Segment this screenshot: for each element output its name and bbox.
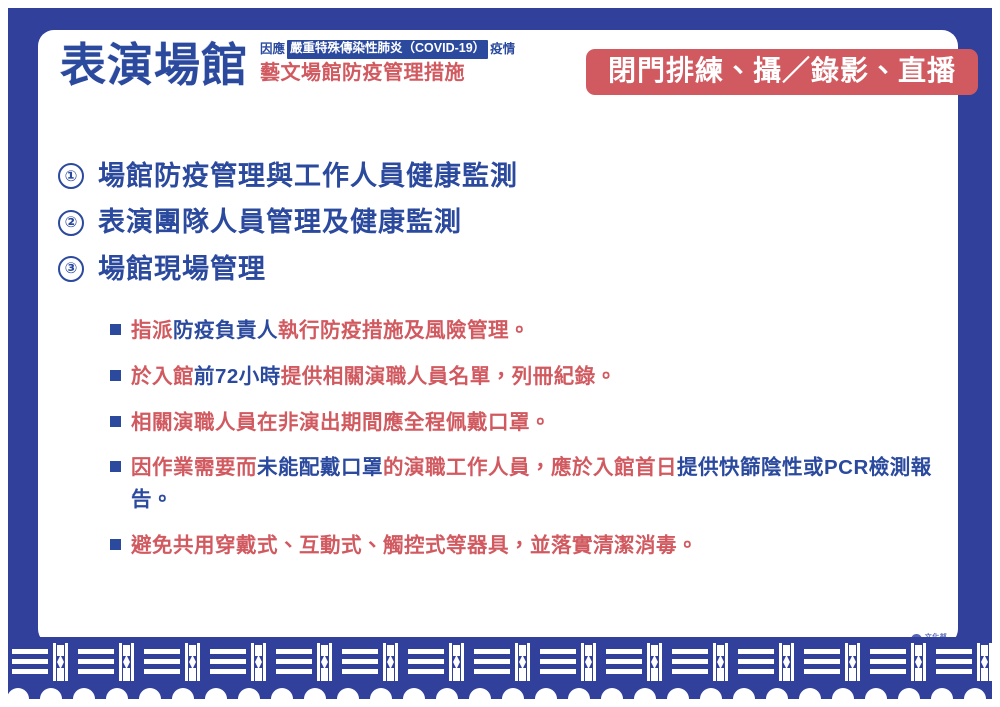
bullet-text-segment: 於入館 [131,365,194,388]
bullet-text-segment: 未能配戴口罩 [257,456,383,479]
bullet-square-icon [110,539,121,550]
bullet-item: 於入館前72小時提供相關演職人員名單，列冊紀錄。 [110,361,940,393]
bullet-item: 相關演職人員在非演出期間應全程佩戴口罩。 [110,407,940,439]
list-item-label: 表演團隊人員管理及健康監測 [98,206,462,238]
list-number-badge: ② [58,210,84,236]
subtitle-stack: 因應 嚴重特殊傳染性肺炎（COVID-19） 疫情 藝文場館防疫管理措施 [260,40,515,88]
railing-pattern-icon [8,637,992,699]
bullet-item: 指派防疫負責人執行防疫措施及風險管理。 [110,315,940,347]
bullet-text: 相關演職人員在非演出期間應全程佩戴口罩。 [131,407,551,439]
title-block: 表演場館 因應 嚴重特殊傳染性肺炎（COVID-19） 疫情 藝文場館防疫管理措… [60,40,515,88]
status-badge: 閉門排練、攝／錄影、直播 [586,49,978,95]
subtitle-suffix: 疫情 [490,42,515,58]
bullet-text-segment: 因作業需要而 [131,456,257,479]
subtitle-line-1: 因應 嚴重特殊傳染性肺炎（COVID-19） 疫情 [260,40,515,59]
list-item-label: 場館防疫管理與工作人員健康監測 [98,160,518,192]
subtitle-highlight: 嚴重特殊傳染性肺炎（COVID-19） [287,40,488,59]
list-number-badge: ① [58,163,84,189]
bullet-text-segment: 的演職工作人員，應於入館首日 [383,456,677,479]
subtitle-line-2: 藝文場館防疫管理措施 [260,62,465,85]
bullet-square-icon [110,416,121,427]
bullet-text-segment: 避免共用穿戴式、互動式、觸控式等器具，並落實清潔消毒。 [131,534,698,557]
bullet-square-icon [110,461,121,472]
bullet-text-segment: 指派 [131,319,173,342]
bullet-item: 避免共用穿戴式、互動式、觸控式等器具，並落實清潔消毒。 [110,530,940,562]
bullet-list: 指派防疫負責人執行防疫措施及風險管理。於入館前72小時提供相關演職人員名單，列冊… [110,315,940,576]
bullet-text: 於入館前72小時提供相關演職人員名單，列冊紀錄。 [131,361,617,393]
bullet-text-segment: 相關演職人員在非演出期間應全程佩戴口罩。 [131,411,551,434]
bullet-item: 因作業需要而未能配戴口罩的演職工作人員，應於入館首日提供快篩陰性或PCR檢測報告… [110,452,940,516]
bullet-text-segment: 提供相關演職人員名單，列冊紀錄。 [281,365,617,388]
subtitle-prefix: 因應 [260,42,285,58]
bullet-text: 因作業需要而未能配戴口罩的演職工作人員，應於入館首日提供快篩陰性或PCR檢測報告… [131,452,940,516]
poster-page: 表演場館 因應 嚴重特殊傳染性肺炎（COVID-19） 疫情 藝文場館防疫管理措… [0,0,1000,707]
bullet-text-segment: 執行防疫措施及風險管理。 [278,319,530,342]
list-item-label: 場館現場管理 [98,253,266,285]
bullet-square-icon [110,324,121,335]
list-item: ② 表演團隊人員管理及健康監測 [58,206,918,238]
list-item: ① 場館防疫管理與工作人員健康監測 [58,160,918,192]
bullet-text-segment: 防疫負責人 [173,319,278,342]
page-title: 表演場館 [60,42,248,88]
bullet-text: 指派防疫負責人執行防疫措施及風險管理。 [131,315,530,347]
list-item: ③ 場館現場管理 [58,253,918,285]
bullet-text: 避免共用穿戴式、互動式、觸控式等器具，並落實清潔消毒。 [131,530,698,562]
bullet-square-icon [110,370,121,381]
poster-header: 表演場館 因應 嚴重特殊傳染性肺炎（COVID-19） 疫情 藝文場館防疫管理措… [60,40,960,118]
numbered-list: ① 場館防疫管理與工作人員健康監測 ② 表演團隊人員管理及健康監測 ③ 場館現場… [58,160,918,299]
decorative-railing [8,637,992,699]
list-number-badge: ③ [58,256,84,282]
bullet-text-segment: 前72小時 [194,365,281,388]
